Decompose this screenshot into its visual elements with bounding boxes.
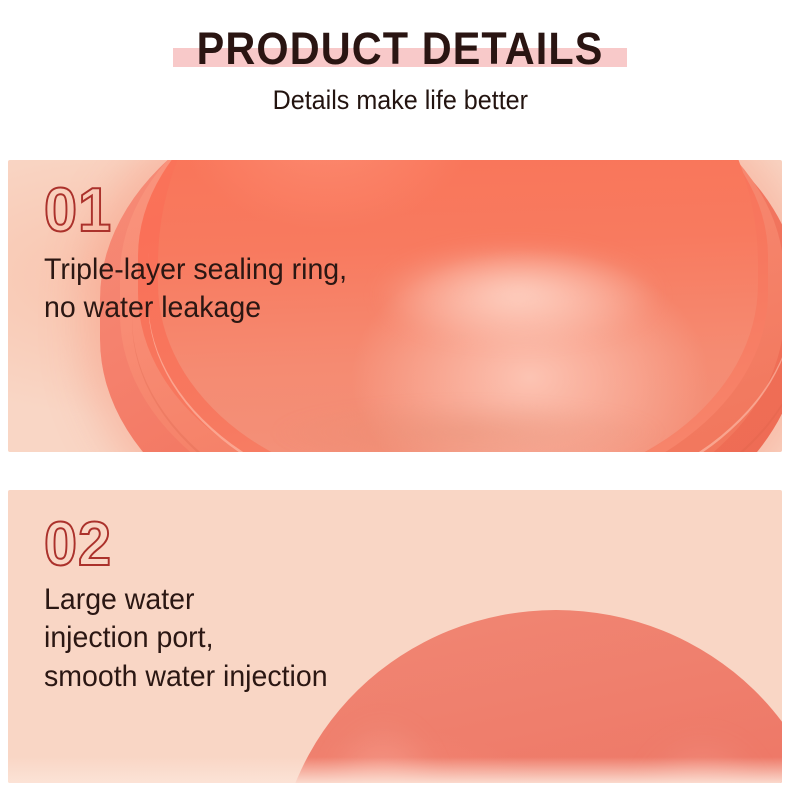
- panel-floor-fade: [8, 757, 782, 783]
- panel-01-number: 01: [44, 182, 350, 241]
- page-subtitle: Details make life better: [272, 85, 527, 116]
- page-title: PRODUCT DETAILS: [197, 26, 604, 71]
- detail-panel-02: 02 Large water injection port, smooth wa…: [8, 490, 782, 783]
- panel-02-description: Large water injection port, smooth water…: [44, 581, 328, 696]
- panel-01-description: Triple-layer sealing ring, no water leak…: [44, 251, 347, 328]
- page-title-wrapper: PRODUCT DETAILS: [179, 26, 621, 71]
- dome-specular-highlight: [308, 220, 728, 370]
- panel-02-number: 02: [44, 516, 331, 575]
- page-header: PRODUCT DETAILS Details make life better: [0, 0, 800, 160]
- detail-panel-01: 01 Triple-layer sealing ring, no water l…: [8, 160, 782, 452]
- panel-02-text-block: 02 Large water injection port, smooth wa…: [44, 516, 342, 696]
- panel-01-text-block: 01 Triple-layer sealing ring, no water l…: [44, 182, 363, 328]
